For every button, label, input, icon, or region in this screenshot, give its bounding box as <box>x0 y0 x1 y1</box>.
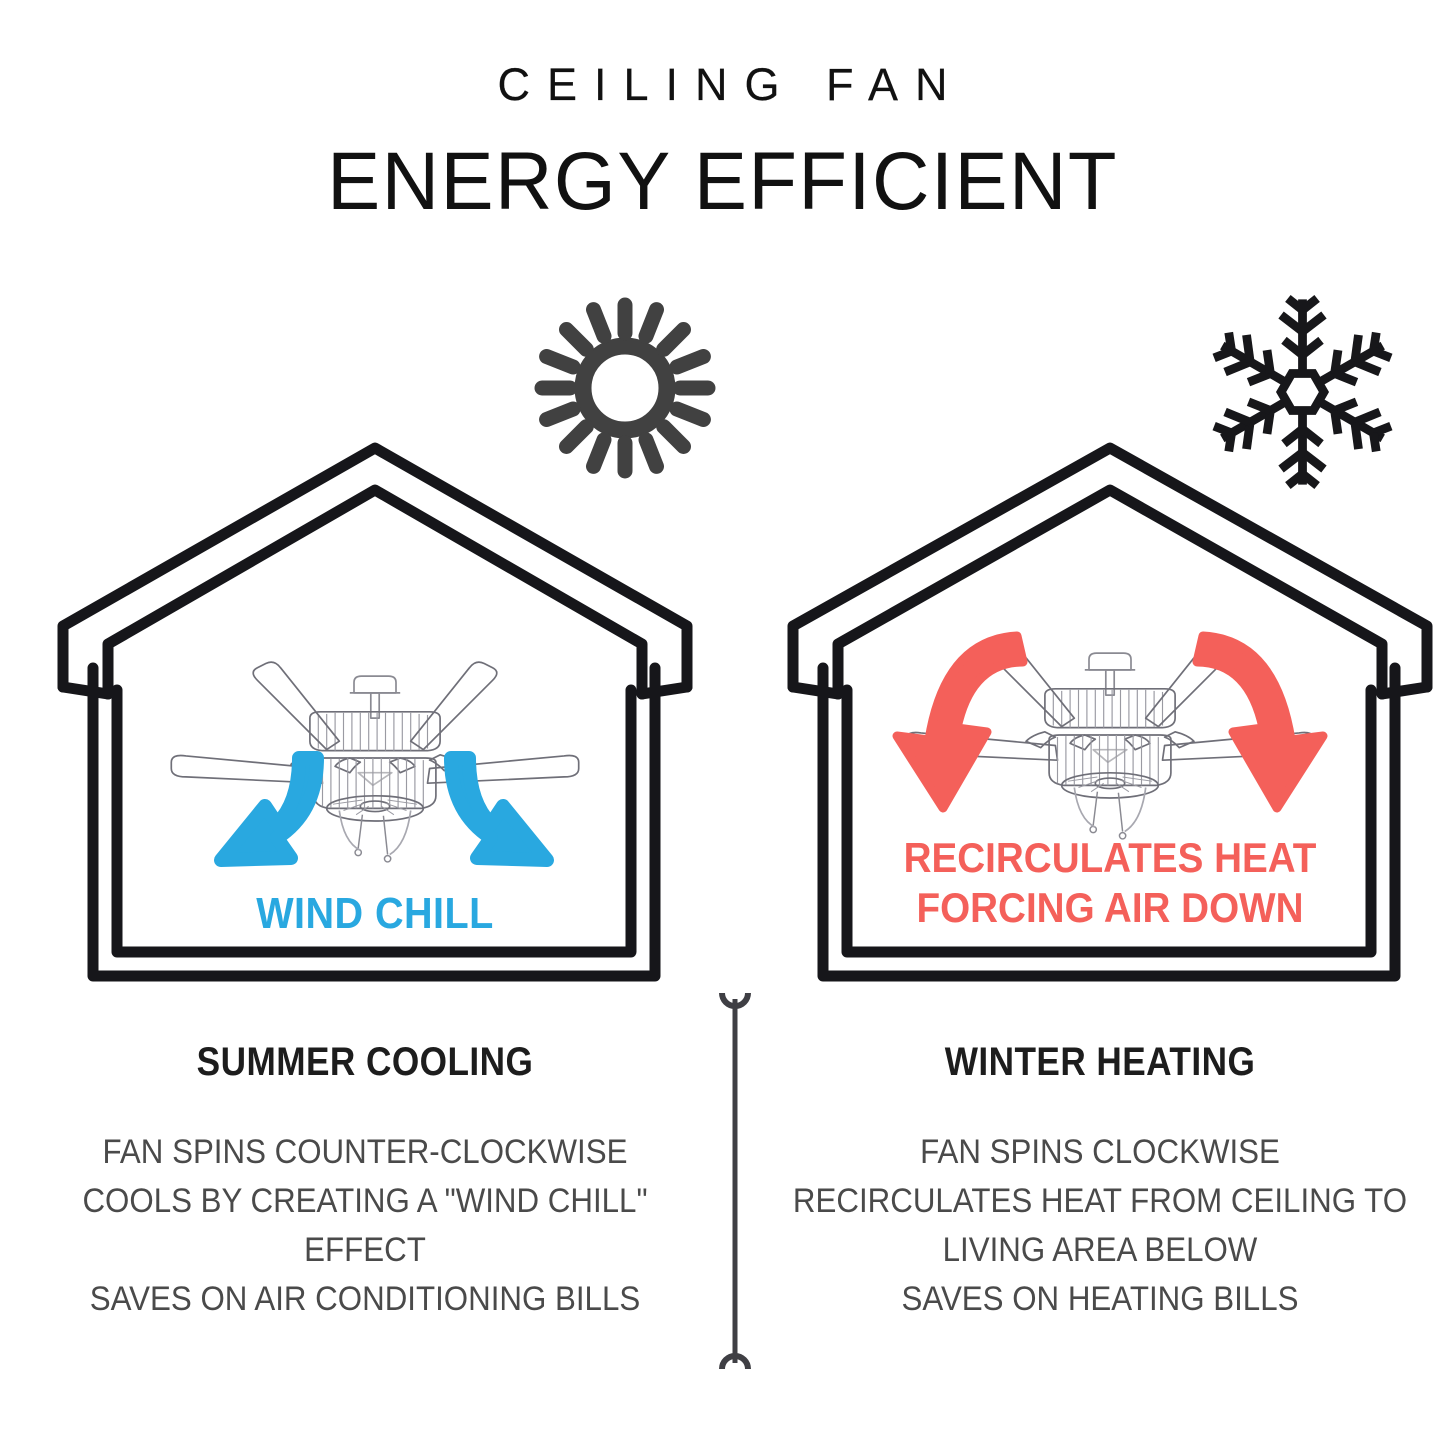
airflow-arrows-red <box>897 636 1323 808</box>
airflow-arrow-left <box>221 758 317 860</box>
roof-eave-right <box>1382 687 1427 694</box>
caption-line: FAN SPINS COUNTER-CLOCKWISE <box>66 1128 664 1177</box>
fan-blade <box>358 773 392 786</box>
roof-eave-right <box>642 687 687 694</box>
page-kicker: CEILING FAN <box>0 62 1445 107</box>
airflow-arrow-left <box>897 636 1023 808</box>
caption-line: RECIRCULATES HEAT FROM CEILING TO <box>787 1177 1413 1226</box>
roof-group <box>63 448 687 694</box>
caption-line: LIVING AREA BELOW <box>787 1226 1413 1275</box>
summer-caption-heading: SUMMER COOLING <box>79 1040 651 1084</box>
in-house-label-winter-line1: RECIRCULATES HEAT <box>904 833 1317 881</box>
caption-line: SAVES ON HEATING BILLS <box>787 1275 1413 1324</box>
roof-group <box>793 448 1427 694</box>
summer-house-diagram: WIND CHILL <box>55 440 695 1000</box>
caption-line: COOLS BY CREATING A "WIND CHILL" <box>66 1177 664 1226</box>
roof-outer-chevron <box>63 448 687 687</box>
roof-eave-left <box>793 687 838 694</box>
caption-line: SAVES ON AIR CONDITIONING BILLS <box>66 1275 664 1324</box>
winter-caption-block: WINTER HEATING FAN SPINS CLOCKWISE RECIR… <box>760 1040 1440 1324</box>
fan-blade <box>1093 750 1127 763</box>
winter-house-diagram: RECIRCULATES HEAT FORCING AIR DOWN <box>785 440 1435 1000</box>
roof-inner-chevron <box>838 490 1382 694</box>
infographic-page: CEILING FAN ENERGY EFFICIENT <box>0 0 1445 1445</box>
airflow-arrow-right <box>1197 636 1323 808</box>
winter-caption-heading: WINTER HEATING <box>801 1040 1399 1084</box>
roof-outer-chevron <box>793 448 1427 687</box>
fan-blade <box>411 662 497 750</box>
header: CEILING FAN ENERGY EFFICIENT <box>0 0 1445 223</box>
winter-caption-body: FAN SPINS CLOCKWISE RECIRCULATES HEAT FR… <box>787 1128 1413 1324</box>
summer-caption-block: SUMMER COOLING FAN SPINS COUNTER-CLOCKWI… <box>40 1040 690 1324</box>
roof-eave-left <box>63 687 108 694</box>
airflow-arrow-right <box>451 758 547 860</box>
summer-caption-body: FAN SPINS COUNTER-CLOCKWISE COOLS BY CRE… <box>66 1128 664 1324</box>
in-house-label-summer: WIND CHILL <box>256 888 494 937</box>
in-house-label-winter-line2: FORCING AIR DOWN <box>917 883 1304 931</box>
caption-line: EFFECT <box>66 1226 664 1275</box>
caption-line: FAN SPINS CLOCKWISE <box>787 1128 1413 1177</box>
roof-inner-chevron <box>108 490 642 694</box>
page-title: ENERGY EFFICIENT <box>22 141 1424 223</box>
